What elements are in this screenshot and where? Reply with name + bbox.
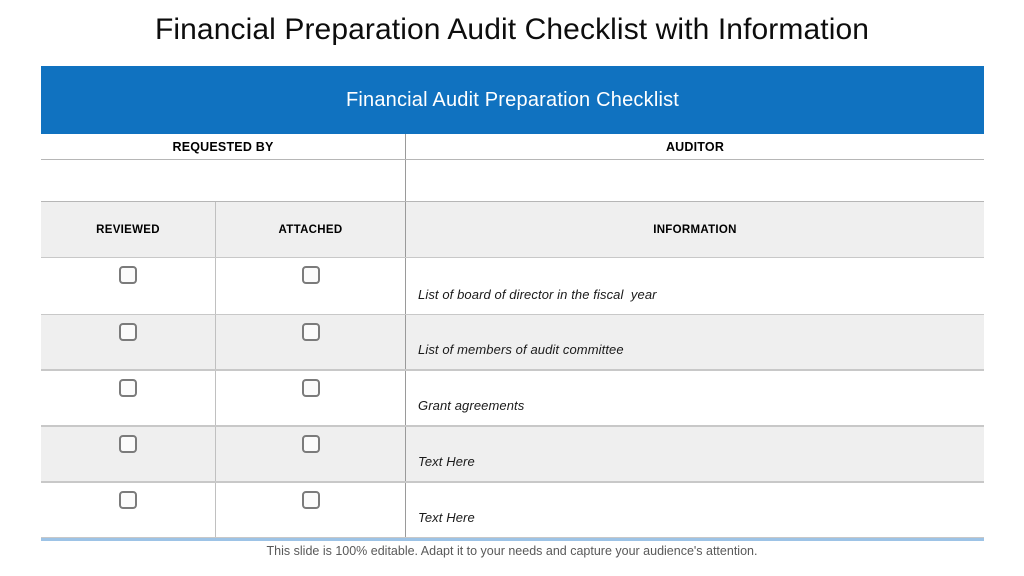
- reviewed-cell: [41, 427, 215, 481]
- checklist-table: Financial Audit Preparation Checklist RE…: [41, 66, 984, 541]
- attached-checkbox[interactable]: [302, 435, 320, 453]
- table-banner: Financial Audit Preparation Checklist: [41, 66, 984, 134]
- requested-by-field[interactable]: [41, 160, 405, 201]
- reviewed-checkbox[interactable]: [119, 266, 137, 284]
- slide: Financial Preparation Audit Checklist wi…: [0, 0, 1024, 576]
- auditor-field[interactable]: [405, 160, 984, 201]
- column-header-row: REVIEWED ATTACHED INFORMATION: [41, 202, 984, 258]
- reviewed-checkbox[interactable]: [119, 491, 137, 509]
- party-header-row: REQUESTED BY AUDITOR: [41, 134, 984, 160]
- information-text[interactable]: Text Here: [418, 510, 475, 525]
- column-header-reviewed: REVIEWED: [41, 202, 215, 257]
- table-row: Text Here: [41, 426, 984, 482]
- information-cell: Grant agreements: [405, 371, 984, 425]
- reviewed-checkbox[interactable]: [119, 323, 137, 341]
- information-text[interactable]: Text Here: [418, 454, 475, 469]
- attached-checkbox[interactable]: [302, 323, 320, 341]
- auditor-header: AUDITOR: [405, 134, 984, 159]
- requested-by-header: REQUESTED BY: [41, 134, 405, 159]
- table-row: List of board of director in the fiscal …: [41, 258, 984, 314]
- party-entry-row: [41, 160, 984, 202]
- information-cell: List of board of director in the fiscal …: [405, 258, 984, 314]
- attached-cell: [215, 427, 405, 481]
- information-text[interactable]: List of members of audit committee: [418, 342, 624, 357]
- page-title: Financial Preparation Audit Checklist wi…: [0, 13, 1024, 47]
- attached-cell: [215, 483, 405, 537]
- table-row: Text Here: [41, 482, 984, 538]
- column-header-attached: ATTACHED: [215, 202, 405, 257]
- table-body: List of board of director in the fiscal …: [41, 258, 984, 538]
- reviewed-cell: [41, 483, 215, 537]
- information-text[interactable]: Grant agreements: [418, 398, 524, 413]
- information-text[interactable]: List of board of director in the fiscal …: [418, 287, 657, 302]
- table-row: Grant agreements: [41, 370, 984, 426]
- reviewed-cell: [41, 371, 215, 425]
- bottom-accent-line: [41, 538, 984, 541]
- table-row: List of members of audit committee: [41, 314, 984, 370]
- reviewed-cell: [41, 258, 215, 314]
- attached-cell: [215, 258, 405, 314]
- attached-checkbox[interactable]: [302, 266, 320, 284]
- reviewed-checkbox[interactable]: [119, 379, 137, 397]
- information-cell: Text Here: [405, 427, 984, 481]
- attached-cell: [215, 315, 405, 369]
- information-cell: List of members of audit committee: [405, 315, 984, 369]
- information-cell: Text Here: [405, 483, 984, 537]
- reviewed-checkbox[interactable]: [119, 435, 137, 453]
- column-header-information: INFORMATION: [405, 202, 984, 257]
- attached-cell: [215, 371, 405, 425]
- footer-note: This slide is 100% editable. Adapt it to…: [0, 544, 1024, 558]
- attached-checkbox[interactable]: [302, 379, 320, 397]
- attached-checkbox[interactable]: [302, 491, 320, 509]
- reviewed-cell: [41, 315, 215, 369]
- banner-title: Financial Audit Preparation Checklist: [346, 89, 679, 112]
